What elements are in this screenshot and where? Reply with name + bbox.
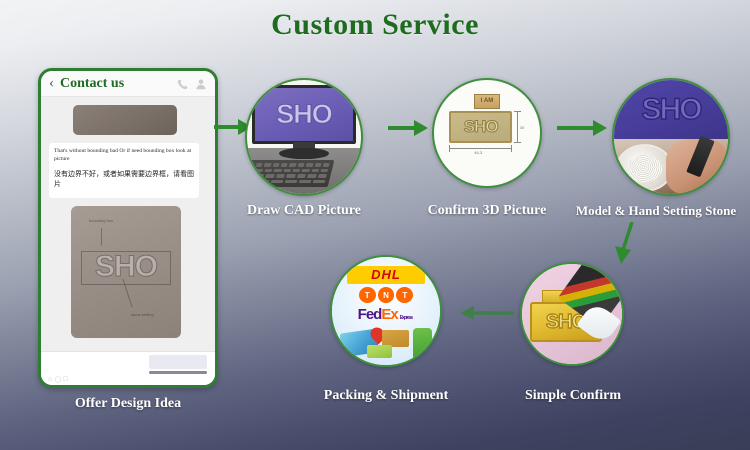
- shipping-scene: DHL T N T FedExExpress: [332, 257, 440, 365]
- tnt-logo: T N T: [358, 287, 414, 303]
- parcel-box: [382, 330, 409, 347]
- dimension-label-height: 30: [520, 125, 524, 130]
- sketch-word: SHO: [95, 250, 157, 284]
- chevron-left-icon[interactable]: ‹: [49, 76, 54, 91]
- poster-canvas: Custom Service ‹ Contact us That's witho…: [0, 0, 750, 450]
- arrow-confirm-to-packing: [458, 305, 514, 321]
- confirm-scene: SHO: [522, 264, 622, 364]
- tnt-letter: N: [378, 287, 395, 303]
- monitor-screen: SHO: [252, 85, 357, 144]
- sketch-note-top: bounding box: [89, 218, 113, 223]
- parcel-box-secondary: [367, 345, 392, 358]
- send-button[interactable]: [149, 355, 207, 369]
- home-indicator: [149, 371, 207, 374]
- fedex-fed-text: Fed: [358, 306, 382, 323]
- caption-simple-confirm: Simple Confirm: [500, 388, 646, 404]
- step-image-confirm-3d-picture: I AM SHO 46.3 30: [432, 78, 542, 188]
- caption-offer-design-idea: Offer Design Idea: [38, 396, 218, 412]
- stone-setting-scene: SHO: [614, 80, 728, 194]
- page-title: Custom Service: [0, 8, 750, 42]
- model-sho-text: SHO: [612, 80, 730, 139]
- arrow-cad-to-3d: [388, 119, 430, 137]
- dimension-line-width: [449, 148, 513, 149]
- parcel-illustration: [338, 326, 433, 363]
- chat-thread[interactable]: That's without bounding bad Or if need b…: [41, 97, 215, 385]
- step-image-model-hand-setting-stone: SHO: [612, 78, 730, 196]
- chat-composer[interactable]: ☺ ◯ ☐: [41, 351, 215, 385]
- chat-header: ‹ Contact us: [41, 71, 215, 97]
- step-image-simple-confirm: SHO: [520, 262, 624, 366]
- composer-icons[interactable]: ☺ ◯ ☐: [47, 376, 68, 383]
- cad-monitor-scene: SHO: [247, 80, 361, 194]
- dimension-label-width: 46.3: [474, 150, 482, 155]
- tnt-letter: T: [396, 287, 413, 303]
- caption-draw-cad-picture: Draw CAD Picture: [235, 203, 373, 219]
- message-image-thumbnail: [73, 105, 177, 135]
- render-plate: SHO: [449, 111, 513, 143]
- message-text-en: That's without bounding bad Or if need b…: [54, 148, 191, 162]
- cad-sho-text: SHO: [255, 88, 354, 141]
- message-text-cn: 没有边界不好，或者如果需要边界框，请看图片: [54, 169, 194, 190]
- step-image-draw-cad-picture: SHO: [245, 78, 363, 196]
- monitor-base: [279, 148, 329, 158]
- fedex-ex-text: Ex: [381, 306, 397, 323]
- step-image-packing-shipment: DHL T N T FedExExpress: [330, 255, 442, 367]
- dimension-line-height: [517, 111, 518, 143]
- chat-title: Contact us: [60, 76, 171, 92]
- keyboard: [245, 160, 335, 187]
- person-icon[interactable]: [195, 78, 207, 90]
- render-3d-scene: I AM SHO 46.3 30: [434, 80, 540, 186]
- phone-icon[interactable]: [177, 78, 189, 90]
- sketch-note-bottom: stone setting: [131, 312, 154, 317]
- caption-model-hand-setting-stone: Model & Hand Setting Stone: [562, 203, 750, 219]
- sketch-leader-line: [101, 228, 102, 246]
- dhl-logo: DHL: [347, 266, 425, 284]
- fedex-express-text: Express: [400, 315, 412, 321]
- caption-packing-shipment: Packing & Shipment: [300, 388, 472, 404]
- courier-figure: [413, 328, 432, 362]
- tnt-letter: T: [359, 287, 376, 303]
- arrow-3d-to-model: [557, 119, 609, 137]
- message-bubble: That's without bounding bad Or if need b…: [49, 143, 199, 198]
- render-tag: I AM: [474, 94, 499, 109]
- arrow-model-to-confirm: [612, 222, 640, 266]
- model-block: SHO: [612, 80, 730, 139]
- fedex-logo: FedExExpress: [343, 306, 427, 325]
- caption-confirm-3d-picture: Confirm 3D Picture: [414, 203, 560, 219]
- phone-mockup: ‹ Contact us That's without bounding bad…: [38, 68, 218, 388]
- sketch-image: SHO bounding box stone setting: [71, 206, 181, 338]
- stone-dish: [616, 144, 673, 192]
- render-sho-text: SHO: [451, 113, 511, 141]
